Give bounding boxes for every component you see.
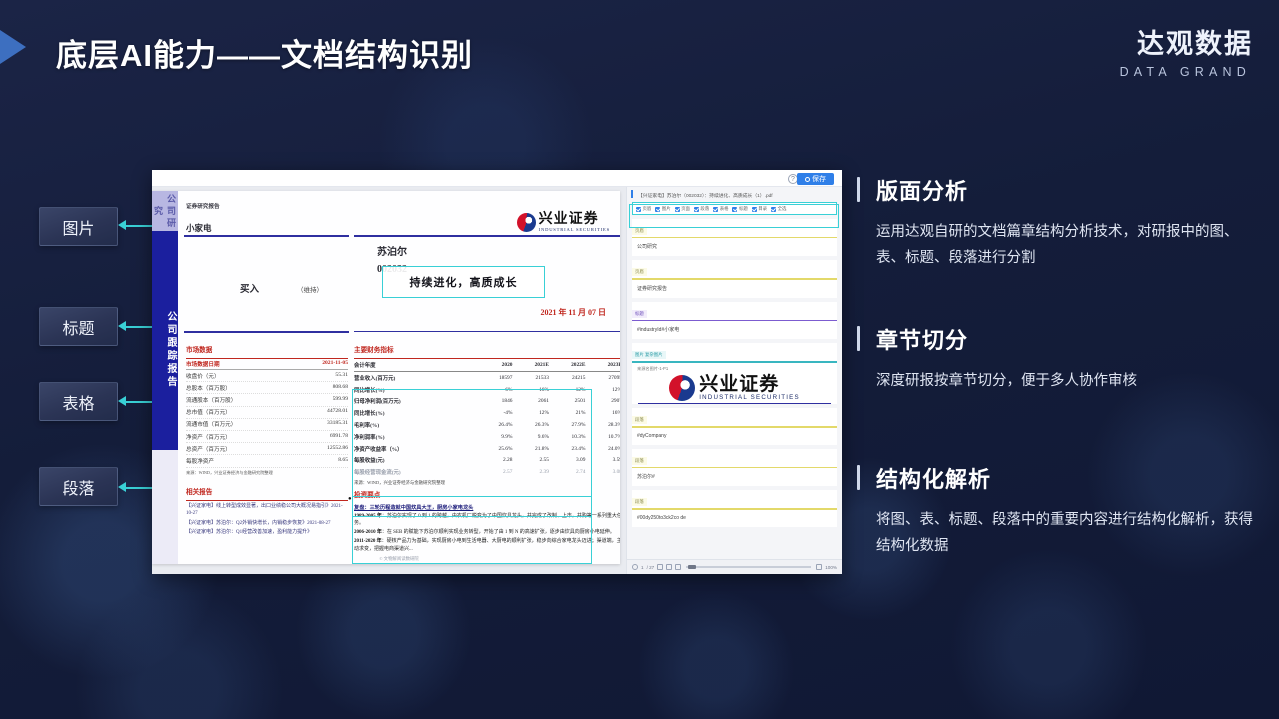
financial-table: 主要财务指标 会计年度20202021E2022E2023E 营业收入(百万元)… (354, 339, 620, 486)
financial-cell: 9.9% (477, 431, 512, 443)
connector-heading-arrow (118, 321, 126, 331)
feature-accent-bar (857, 177, 860, 202)
financial-cell: 18597 (477, 372, 512, 384)
pdf-content: 证券研究报告 小家电 兴业证券 INDUSTRIAL SECURITIES 苏泊… (182, 191, 616, 564)
related-reports-title-row: 相关报告 (186, 481, 348, 501)
market-data-row-label: 收盘价（元） (186, 372, 220, 380)
financial-cell: 21.8% (512, 443, 549, 455)
financial-row-label: 每股经营现金流(元) (354, 466, 477, 478)
pdf-rating-prev: （维持） (297, 284, 323, 294)
financial-cell: 2.57 (477, 466, 512, 478)
broker-logo-en: INDUSTRIAL SECURITIES (539, 228, 610, 233)
investment-paragraphs: 1989-2005 年：苏泊尔实现了 0 到 1 的跨越，由农机厂蜕变为了中国炊… (354, 513, 620, 554)
financial-row-label: 净利润率(%) (354, 431, 477, 443)
broker-logo-en: INDUSTRIAL SECURITIES (699, 395, 800, 401)
pdf-broker-logo: 兴业证券 INDUSTRIAL SECURITIES (517, 213, 610, 233)
feature-heading-2: 章节切分 (876, 323, 1256, 355)
investment-title-row: 投资要点 (354, 484, 620, 502)
financial-cell: 2.39 (512, 466, 549, 478)
structure-card-list[interactable]: 页眉公司研究页眉证券研究报告标题#industryId#小家电图片 复杂图片来源… (632, 219, 837, 527)
market-data-row-value: 55.31 (335, 372, 348, 380)
save-button-label: 保存 (812, 174, 826, 184)
feature-block-layout-analysis: 版面分析 运用达观自研的文档篇章结构分析技术，对研报中的图、表、标题、段落进行分… (876, 174, 1256, 272)
structure-card[interactable]: 标题#industryId#小家电 (632, 302, 837, 339)
market-data-row-label: 流通股本（百万股） (186, 396, 236, 404)
feature-body-3: 将图、表、标题、段落中的重要内容进行结构化解析，获得结构化数据 (876, 508, 1256, 560)
market-data-row-value: 12552.86 (327, 445, 348, 453)
financial-cell: 21% (549, 407, 586, 419)
callout-label-heading: 标题 (39, 307, 118, 346)
callout-label-paragraph: 段落 (39, 467, 118, 506)
investment-paragraph-era: 2011-2020 年 (354, 539, 382, 544)
filter-checkbox-表格[interactable]: 表格 (713, 206, 728, 212)
financial-title: 主要财务指标 (354, 347, 394, 354)
feature-block-structured-parsing: 结构化解析 将图、表、标题、段落中的重要内容进行结构化解析，获得结构化数据 (876, 462, 1256, 560)
filter-checkbox-label: 页面 (681, 206, 690, 212)
pdf-stock-name: 苏泊尔 (377, 243, 407, 258)
fit-page-icon[interactable] (632, 564, 638, 570)
filter-checkbox-row[interactable]: 页眉图片页面段落表格标题目录全选 (636, 206, 833, 212)
related-reports-title: 相关报告 (186, 489, 212, 496)
financial-cell: 27.9% (549, 419, 586, 431)
financial-cell: 2.74 (549, 466, 586, 478)
market-data-row: 收盘价（元）55.31 (186, 370, 348, 382)
filter-checkbox-label: 页眉 (643, 206, 652, 212)
feature-accent-bar-2 (857, 326, 860, 351)
zoom-out-icon[interactable] (675, 564, 681, 570)
financial-cell: 3.08 (585, 466, 620, 478)
structure-card[interactable]: 段落#dyCompany (632, 408, 837, 444)
financial-row-label: 净资产收益率（%） (354, 443, 477, 455)
financial-cell: 9.6% (512, 431, 549, 443)
structure-card[interactable]: 图片 复杂图片来源名图片-1-P1兴业证券INDUSTRIAL SECURITI… (632, 343, 837, 404)
financial-cell: 2.28 (477, 454, 512, 466)
filter-checkbox-页面[interactable]: 页面 (675, 206, 690, 212)
filter-checkbox-group[interactable]: 页眉图片页面段落表格标题目录全选 (632, 202, 837, 215)
save-button[interactable]: 保存 (797, 173, 834, 185)
financial-column-header: 2023E (585, 359, 620, 372)
related-report-item: 【兴证家电】苏泊尔：Q2外销快增长，内销稳步恢复》2021-08-27 (186, 520, 348, 527)
structure-card-value: #00dy250to3ck2co de (632, 510, 837, 527)
financial-cell: 12% (549, 384, 586, 396)
investment-lead: 复盘：三轮历程造就中国炊具大王，厨房小家电龙头 (354, 504, 620, 511)
financial-title-row: 主要财务指标 (354, 339, 620, 359)
brand-name-cn: 达观数据 (1120, 22, 1253, 61)
financial-cell: 25.6% (477, 443, 512, 455)
structure-card[interactable]: 段落#00dy250to3ck2co de (632, 490, 837, 526)
pdf-rule-left (184, 235, 349, 237)
feature-body-1: 运用达观自研的文档篇章结构分析技术，对研报中的图、表、标题、段落进行分割 (876, 220, 1256, 272)
structure-card-value: 公司研究 (632, 238, 837, 256)
checkbox-checked-icon (636, 207, 641, 212)
financial-row-label: 毛利率(%) (354, 419, 477, 431)
zoom-in-icon[interactable] (816, 564, 822, 570)
filter-checkbox-label: 图片 (662, 206, 671, 212)
investment-points: 投资要点 ● 复盘：三轮历程造就中国炊具大王，厨房小家电龙头 1989-2005… (354, 484, 620, 553)
structure-card-value: #dyCompany (632, 428, 837, 445)
financial-row: 同比增长(%)-4%12%21%16% (354, 407, 620, 419)
related-reports-list: 【兴证家电】线上转型成效显著，出口业绩稳公司大概况易指引》2021-10-27【… (186, 503, 348, 536)
financial-row: 同比增长(%)-6%16%12%12% (354, 384, 620, 396)
pdf-rail-main-text: 公司跟踪报告 (152, 295, 178, 405)
financial-column-header: 2021E (512, 359, 549, 372)
market-data-row-value: 44728.01 (327, 408, 348, 416)
financial-row: 每股收益(元)2.282.553.093.59 (354, 454, 620, 466)
financial-cell: -6% (477, 384, 512, 396)
filter-checkbox-label: 目录 (758, 206, 767, 212)
financial-cell: 2061 (512, 396, 549, 408)
filter-checkbox-label: 标题 (739, 206, 748, 212)
pdf-rule-right-2 (354, 331, 620, 332)
structure-card-tag: 段落 (632, 498, 647, 506)
financial-row-label: 归母净利润(百万元) (354, 396, 477, 408)
financial-row: 毛利率(%)26.4%26.3%27.9%28.3% (354, 419, 620, 431)
grid-view-icon[interactable] (666, 564, 672, 570)
structure-card[interactable]: 页眉证券研究报告 (632, 260, 837, 297)
broker-logo-cn: 兴业证券 (539, 213, 610, 227)
financial-table-body: 营业收入(百万元)18597215332421527095同比增长(%)-6%1… (354, 372, 620, 479)
structure-card-value: 苏泊尔# (632, 468, 837, 486)
related-reports: 相关报告 【兴证家电】线上转型成效显著，出口业绩稳公司大概况易指引》2021-1… (186, 481, 348, 538)
file-accent-bar (631, 190, 633, 198)
related-report-item: 【兴证家电】苏泊尔：Q1经营改善加速，盈利能力提升》 (186, 529, 348, 536)
financial-cell: 2.55 (512, 454, 549, 466)
pdf-page: 公司研究 公司跟踪报告 证券研究报告 小家电 兴业证券 INDUSTRIAL S… (152, 191, 620, 564)
financial-cell: 12% (585, 384, 620, 396)
structure-card-tag: 标题 (632, 310, 647, 318)
feature-heading-3: 结构化解析 (876, 462, 1256, 494)
checkbox-checked-icon (732, 207, 737, 212)
structure-card-image-logo: 兴业证券INDUSTRIAL SECURITIES (632, 372, 837, 403)
financial-cell: 2907 (585, 396, 620, 408)
financial-cell: 26.3% (512, 419, 549, 431)
market-data-row-label: 流通市值（百万元） (186, 420, 236, 428)
financial-row: 每股经营现金流(元)2.572.392.743.08 (354, 466, 620, 478)
structure-card-tag: 页眉 (632, 227, 647, 235)
market-data-date-row: 市场数据日期 2021-11-05 (186, 359, 348, 370)
viewer-bottom-toolbar[interactable]: 1 / 27 100% (626, 559, 842, 574)
market-data-rows: 收盘价（元）55.31总股本（百万股）808.68流通股本（百万股）599.99… (186, 370, 348, 468)
market-data-table: 市场数据 市场数据日期 2021-11-05 收盘价（元）55.31总股本（百万… (186, 339, 348, 476)
financial-column-header: 2022E (549, 359, 586, 372)
save-icon (805, 177, 810, 182)
checkbox-checked-icon (752, 207, 757, 212)
filter-checkbox-全选[interactable]: 全选 (771, 206, 786, 212)
market-data-row-value: 33185.31 (327, 420, 348, 428)
financial-cell: 10.3% (549, 431, 586, 443)
market-data-row-value: 599.99 (333, 396, 348, 404)
page-title: 底层AI能力——文档结构识别 (56, 30, 473, 75)
brand-logo: 达观数据 DATA GRAND (1120, 22, 1253, 79)
investment-paragraph: 2011-2020 年：硬核产品力为基础，实现厨房小电到生活电器、大厨电的顺利扩… (354, 538, 620, 553)
market-data-source: 来源：WIND，兴业证券经济与金融研究院整理 (186, 470, 348, 476)
pdf-side-rail: 公司研究 公司跟踪报告 (152, 191, 178, 564)
filter-checkbox-label: 段落 (700, 206, 709, 212)
financial-cell: 12% (512, 407, 549, 419)
financial-row-label: 同比增长(%) (354, 384, 477, 396)
callout-label-heading-text: 标题 (62, 315, 94, 339)
connector-table-arrow (118, 396, 126, 406)
market-data-row-value: 808.68 (333, 384, 348, 392)
checkbox-checked-icon (655, 207, 660, 212)
zoom-level-label: 100% (825, 565, 837, 570)
financial-cell: 1846 (477, 396, 512, 408)
pdf-rail-top-text: 公司研究 (152, 194, 178, 230)
callout-label-table-text: 表格 (62, 390, 94, 414)
feature-block-chapter-split: 章节切分 深度研报按章节切分，便于多人协作审核 (876, 323, 1256, 395)
market-data-row-label: 每股净资产 (186, 457, 214, 465)
app-screenshot: ? 保存 公司研究 公司跟踪报告 证券研究报告 小家电 (152, 170, 842, 574)
market-data-title: 市场数据 (186, 347, 212, 354)
callout-label-image: 图片 (39, 207, 118, 246)
filter-checkbox-label: 全选 (778, 206, 787, 212)
structure-card-tag: 段落 (632, 416, 647, 424)
financial-row-label: 同比增长(%) (354, 407, 477, 419)
pdf-rating: 买入 (240, 281, 259, 295)
financial-column-header: 会计年度 (354, 359, 477, 372)
market-data-row-label: 总股本（百万股） (186, 384, 231, 392)
pdf-viewer[interactable]: 公司研究 公司跟踪报告 证券研究报告 小家电 兴业证券 INDUSTRIAL S… (152, 187, 626, 574)
financial-row: 归母净利润(百万元)1846206125012907 (354, 396, 620, 408)
investment-paragraph-era: 2006-2010 年 (354, 530, 382, 535)
investment-paragraph: 1989-2005 年：苏泊尔实现了 0 到 1 的跨越，由农机厂蜕变为了中国炊… (354, 513, 620, 528)
financial-table-header: 会计年度20202021E2022E2023E (354, 359, 620, 372)
financial-indicators-table: 会计年度20202021E2022E2023E 营业收入(百万元)1859721… (354, 359, 620, 478)
header-arrow-marker (0, 30, 26, 64)
market-data-row-label: 总市值（百万元） (186, 408, 231, 416)
structure-card-tag: 图片 复杂图片 (632, 351, 666, 359)
financial-cell: 3.59 (585, 454, 620, 466)
financial-row-label: 每股收益(元) (354, 454, 477, 466)
structure-card-image-rule (638, 403, 831, 405)
market-data-row-label: 总资产（百万元） (186, 445, 231, 453)
pdf-page-footer: © 文物解阅读数研院 (182, 556, 616, 562)
structure-card[interactable]: 页眉公司研究 (632, 219, 837, 256)
callout-label-table: 表格 (39, 382, 118, 421)
structure-card-tag: 段落 (632, 457, 647, 465)
filter-checkbox-标题[interactable]: 标题 (732, 206, 747, 212)
filter-checkbox-目录[interactable]: 目录 (752, 206, 767, 212)
page-current-label: 1 (641, 565, 644, 570)
financial-column-header: 2020 (477, 359, 512, 372)
financial-row-label: 营业收入(百万元) (354, 372, 477, 384)
financial-cell: 3.09 (549, 454, 586, 466)
market-data-row: 流通股本（百万股）599.99 (186, 394, 348, 406)
financial-cell: 2501 (549, 396, 586, 408)
structure-panel[interactable]: 【兴证家电】苏泊尔（002032）：持续进化、高质成长（1）.pdf 页眉图片页… (626, 187, 842, 574)
feature-body-2: 深度研报按章节切分，便于多人协作审核 (876, 369, 1256, 395)
financial-row: 营业收入(百万元)18597215332421527095 (354, 372, 620, 384)
callout-label-image-text: 图片 (62, 215, 94, 239)
related-report-item: 【兴证家电】线上转型成效显著，出口业绩稳公司大概况易指引》2021-10-27 (186, 503, 348, 518)
filter-checkbox-label: 表格 (720, 206, 729, 212)
pdf-industry-title: 小家电 (186, 222, 212, 234)
checkbox-checked-icon (675, 207, 680, 212)
filter-checkbox-页眉[interactable]: 页眉 (636, 206, 651, 212)
checkbox-checked-icon (694, 207, 699, 212)
financial-row: 净资产收益率（%）25.6%21.8%23.4%24.0% (354, 443, 620, 455)
app-toolbar: ? 保存 (152, 170, 842, 187)
structure-card-value: #industryId#小家电 (632, 321, 837, 339)
pdf-rail-bottom-band (152, 450, 178, 564)
market-data-row: 流通市值（百万元）33185.31 (186, 419, 348, 431)
page-total-label: / 27 (647, 565, 655, 570)
broker-logo-icon (669, 375, 695, 401)
financial-cell: 23.4% (549, 443, 586, 455)
market-data-date-label: 市场数据日期 (186, 360, 220, 368)
market-data-row: 每股净资产8.65 (186, 455, 348, 467)
pdf-slogan: 持续进化，高质成长 (410, 274, 518, 290)
filter-checkbox-段落[interactable]: 段落 (694, 206, 709, 212)
financial-cell: -4% (477, 407, 512, 419)
broker-logo-icon (517, 213, 536, 232)
market-data-row: 总市值（百万元）44728.01 (186, 407, 348, 419)
financial-cell: 26.4% (477, 419, 512, 431)
financial-cell: 21533 (512, 372, 549, 384)
pdf-eyebrow: 证券研究报告 (186, 202, 220, 210)
market-data-row-label: 净资产（百万元） (186, 433, 231, 441)
callout-label-paragraph-text: 段落 (62, 475, 94, 499)
market-data-row: 总股本（百万股）808.68 (186, 382, 348, 394)
market-data-date-value: 2021-11-05 (322, 360, 348, 368)
checkbox-checked-icon (713, 207, 718, 212)
financial-cell: 24.0% (585, 443, 620, 455)
market-data-row: 净资产（百万元）6991.78 (186, 431, 348, 443)
connector-paragraph-arrow (118, 482, 126, 492)
market-data-row-value: 8.65 (338, 457, 348, 465)
financial-cell: 16% (512, 384, 549, 396)
filter-checkbox-图片[interactable]: 图片 (655, 206, 670, 212)
market-data-row: 总资产（百万元）12552.86 (186, 443, 348, 455)
investment-bullet-icon: ● (348, 496, 352, 502)
investment-paragraph: 2006-2010 年：在 SEB 的赋能下苏泊尔顺利实现业务转型，开始了由 1… (354, 529, 620, 537)
pdf-rule-right (354, 235, 620, 237)
connector-image-arrow (118, 220, 126, 230)
pdf-slogan-highlight: 持续进化，高质成长 (382, 266, 545, 298)
financial-cell: 10.7% (585, 431, 620, 443)
file-name-label: 【兴证家电】苏泊尔（002032）：持续进化、高质成长（1）.pdf (638, 192, 837, 199)
financial-cell: 16% (585, 407, 620, 419)
financial-cell: 28.3% (585, 419, 620, 431)
feature-accent-bar-3 (857, 465, 860, 490)
feature-heading-1: 版面分析 (876, 174, 1256, 206)
zoom-slider[interactable] (686, 566, 811, 567)
investment-paragraph-era: 1989-2005 年 (354, 514, 382, 519)
market-data-title-row: 市场数据 (186, 339, 348, 359)
pdf-rule-left-2 (184, 331, 349, 333)
structure-card-value: 证券研究报告 (632, 280, 837, 298)
rotate-icon[interactable] (657, 564, 663, 570)
broker-logo-cn: 兴业证券 (699, 375, 800, 394)
structure-card-caption: 来源名图片-1-P1 (632, 363, 837, 372)
financial-cell: 27095 (585, 372, 620, 384)
market-data-row-value: 6991.78 (330, 433, 348, 441)
structure-card-tag: 页眉 (632, 268, 647, 276)
financial-row: 净利润率(%)9.9%9.6%10.3%10.7% (354, 431, 620, 443)
checkbox-checked-icon (771, 207, 776, 212)
pdf-date: 2021 年 11 月 07 日 (540, 307, 606, 318)
structure-card[interactable]: 段落苏泊尔# (632, 449, 837, 486)
investment-title: 投资要点 (354, 492, 380, 499)
financial-cell: 24215 (549, 372, 586, 384)
brand-name-en: DATA GRAND (1120, 65, 1253, 79)
